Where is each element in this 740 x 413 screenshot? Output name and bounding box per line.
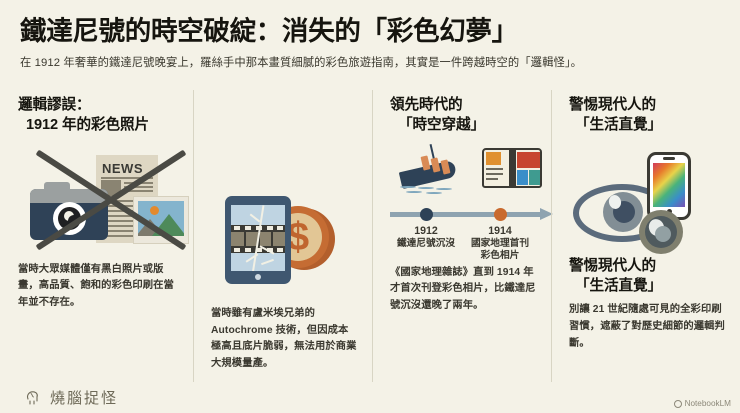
column-1-heading-line2: 1912 年的彩色照片 [18,116,179,136]
columns-container: 邏輯謬誤： 1912 年的彩色照片 NEWS [0,88,740,384]
timeline-event-1914: 1914 國家地理首刊 彩色相片 [458,225,542,263]
column-4-heading-line1: 警惕現代人的 [569,97,656,113]
column-4-subheading-line1: 警惕現代人的 [569,258,656,274]
brain-head-icon [24,388,44,408]
column-4-heading: 警惕現代人的 「生活直覺」 [569,96,726,136]
logo-text: 燒腦捉怪 [50,387,118,408]
illustration-camera-newspaper-photo: NEWS [18,140,179,252]
column-2-body: 當時雖有盧米埃兄弟的 Autochrome 技術，但因成本極高且底片脆弱，無法用… [211,306,358,373]
notebooklm-watermark: NotebookLM [674,399,731,408]
column-1-heading: 邏輯謬誤： 1912 年的彩色照片 [18,96,179,136]
illustration-eye-phone-lens [569,140,726,255]
illustration-ship-book-timeline [390,144,537,204]
column-3-body: 《國家地理雜誌》直到 1914 年才首次刊登彩色相片，比鐵達尼號沉沒還晚了兩年。 [390,265,537,315]
notebooklm-mark-icon [674,400,682,408]
column-4-subheading-line2: 「生活直覺」 [569,277,726,297]
brand-logo: 燒腦捉怪 [24,387,118,408]
column-1-body: 當時大眾媒體僅有黑白照片或版畫，高品質、飽和的彩色印刷在當年並不存在。 [18,262,179,312]
column-time-travel: 領先時代的 「時空穿越」 [372,88,551,384]
sinking-ship-icon [398,146,464,192]
page-subtitle: 在 1912 年奢華的鐵達尼號晚宴上，羅絲手中那本畫質細膩的彩色旅遊指南，其實是… [20,56,720,71]
column-3-heading-line2: 「時空穿越」 [390,116,537,136]
illustration-tablet-film-coin: $ [211,150,358,292]
smartphone-icon [647,152,691,220]
column-3-heading-line1: 領先時代的 [390,97,462,113]
column-4-heading-line2: 「生活直覺」 [569,116,726,136]
notebooklm-label: NotebookLM [685,399,731,408]
column-modern-intuition: 警惕現代人的 「生活直覺」 [551,88,740,384]
column-4-body: 別讓 21 世紀隨處可見的全彩印刷習慣，遮蔽了對歷史細節的邏輯判斷。 [569,302,726,352]
column-3-heading: 領先時代的 「時空穿越」 [390,96,537,136]
column-1-heading-line1: 邏輯謬誤： [18,97,90,113]
timeline-labels: 1912 鐵達尼號沉沒 1914 國家地理首刊 彩色相片 [390,219,537,261]
phone-color-screen [653,163,685,207]
timeline-event-1912: 1912 鐵達尼號沉沒 [384,225,468,250]
cross-out-x-icon [36,152,186,248]
infographic-page: 鐵達尼號的時空破綻：消失的「彩色幻夢」 在 1912 年奢華的鐵達尼號晚宴上，羅… [0,0,740,413]
header: 鐵達尼號的時空破綻：消失的「彩色幻夢」 在 1912 年奢華的鐵達尼號晚宴上，羅… [0,0,740,71]
footer: 燒腦捉怪 NotebookLM [0,383,740,413]
tablet-icon [225,196,291,284]
open-book-icon [482,146,544,190]
column-4-subheading: 警惕現代人的 「生活直覺」 [569,257,726,297]
column-autochrome: $ [193,88,372,384]
page-title: 鐵達尼號的時空破綻：消失的「彩色幻夢」 [20,17,720,47]
column-logical-fallacy: 邏輯謬誤： 1912 年的彩色照片 NEWS [0,88,193,384]
